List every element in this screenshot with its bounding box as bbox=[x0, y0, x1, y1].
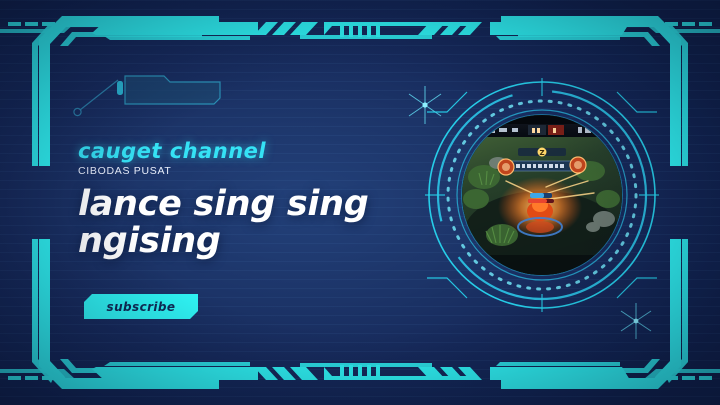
circular-media-frame: Z bbox=[425, 78, 659, 312]
subscribe-button[interactable]: subscribe bbox=[84, 294, 198, 319]
subscribe-button-label: subscribe bbox=[107, 300, 176, 314]
thumbnail-canvas: Z bbox=[0, 0, 720, 405]
channel-sublabel: CIBODAS PUSAT bbox=[78, 165, 438, 177]
video-title-line-2: ngising bbox=[78, 223, 438, 260]
hud-tag-panel bbox=[96, 74, 256, 120]
gameplay-screenshot: Z bbox=[462, 115, 622, 275]
svg-text:Z: Z bbox=[539, 149, 544, 157]
channel-name: cauget channel bbox=[78, 140, 438, 162]
video-title: lance sing sing ngising bbox=[78, 186, 438, 260]
text-block: cauget channel CIBODAS PUSAT lance sing … bbox=[78, 140, 438, 260]
video-title-line-1: lance sing sing bbox=[78, 186, 438, 223]
